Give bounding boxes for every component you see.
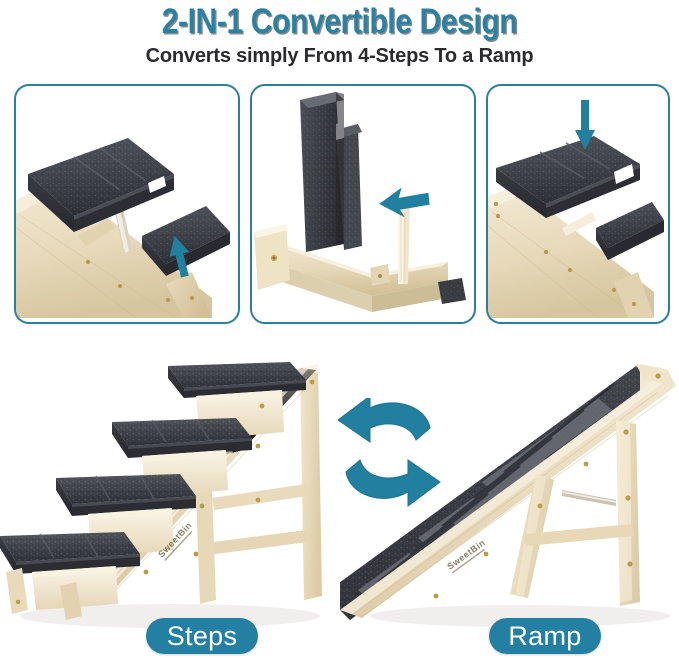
pet-stairs-ramp-view: SweetBin [340,348,679,638]
ramp-illustration: SweetBin [340,348,679,638]
step-upright-panel [250,84,476,324]
ramp-label-pill: Ramp [489,618,601,654]
panel-1-illustration [16,86,234,318]
panel-3-illustration [488,86,664,318]
ramp-label-text: Ramp [508,621,581,652]
page-subtitle: Converts simply From 4-Steps To a Ramp [0,45,679,68]
step-lifting-panel [14,84,240,324]
steps-label-pill: Steps [146,618,258,654]
steps-illustration: SweetBin [0,348,340,638]
pet-stairs-steps-view: SweetBin [0,348,340,638]
steps-label-text: Steps [167,621,238,652]
step-folding-down-panel [486,84,670,324]
panel-2-illustration [252,86,470,318]
infographic-root: 2-IN-1 Convertible Design Converts simpl… [0,0,679,659]
page-title: 2-IN-1 Convertible Design [48,2,632,42]
